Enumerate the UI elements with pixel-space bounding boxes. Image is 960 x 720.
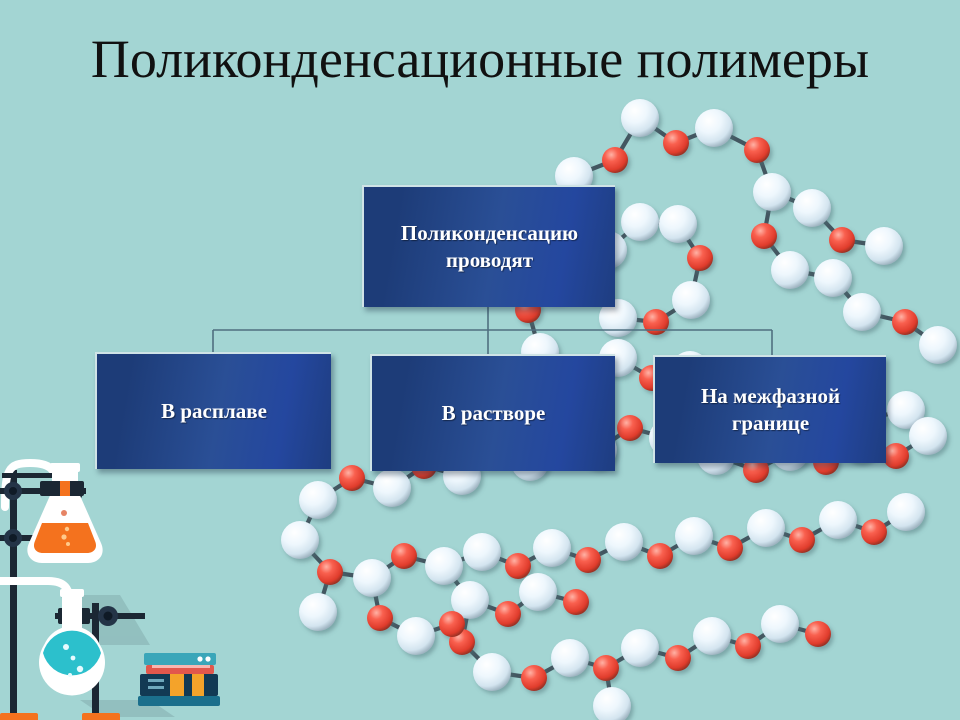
node-at-interface[interactable]: На межфазной границе: [653, 355, 886, 463]
node-label-in-melt: В расплаве: [161, 398, 267, 425]
stand-rod-left: [10, 470, 17, 715]
node-label-root: Поликонденсацию проводят: [372, 220, 607, 274]
flask-orange: [27, 463, 102, 563]
tube-upper: [5, 463, 57, 517]
node-in-solution[interactable]: В растворе: [370, 354, 615, 471]
stand-base-left: [0, 713, 38, 720]
stand-base-right: [82, 713, 120, 720]
node-in-melt[interactable]: В расплаве: [95, 352, 331, 469]
stand-rod-right: [92, 603, 99, 715]
slide-canvas: Поликонденсационные полимеры Поликонденс…: [0, 0, 960, 720]
tube-lower: [0, 581, 70, 627]
node-label-at-interface: На межфазной границе: [663, 383, 878, 437]
books-stack: [138, 653, 220, 706]
node-label-in-solution: В растворе: [442, 400, 546, 427]
node-polycondensation-methods[interactable]: Поликонденсацию проводят: [362, 185, 615, 307]
flask-cyan: [39, 589, 105, 695]
page-title: Поликонденсационные полимеры: [0, 28, 960, 90]
